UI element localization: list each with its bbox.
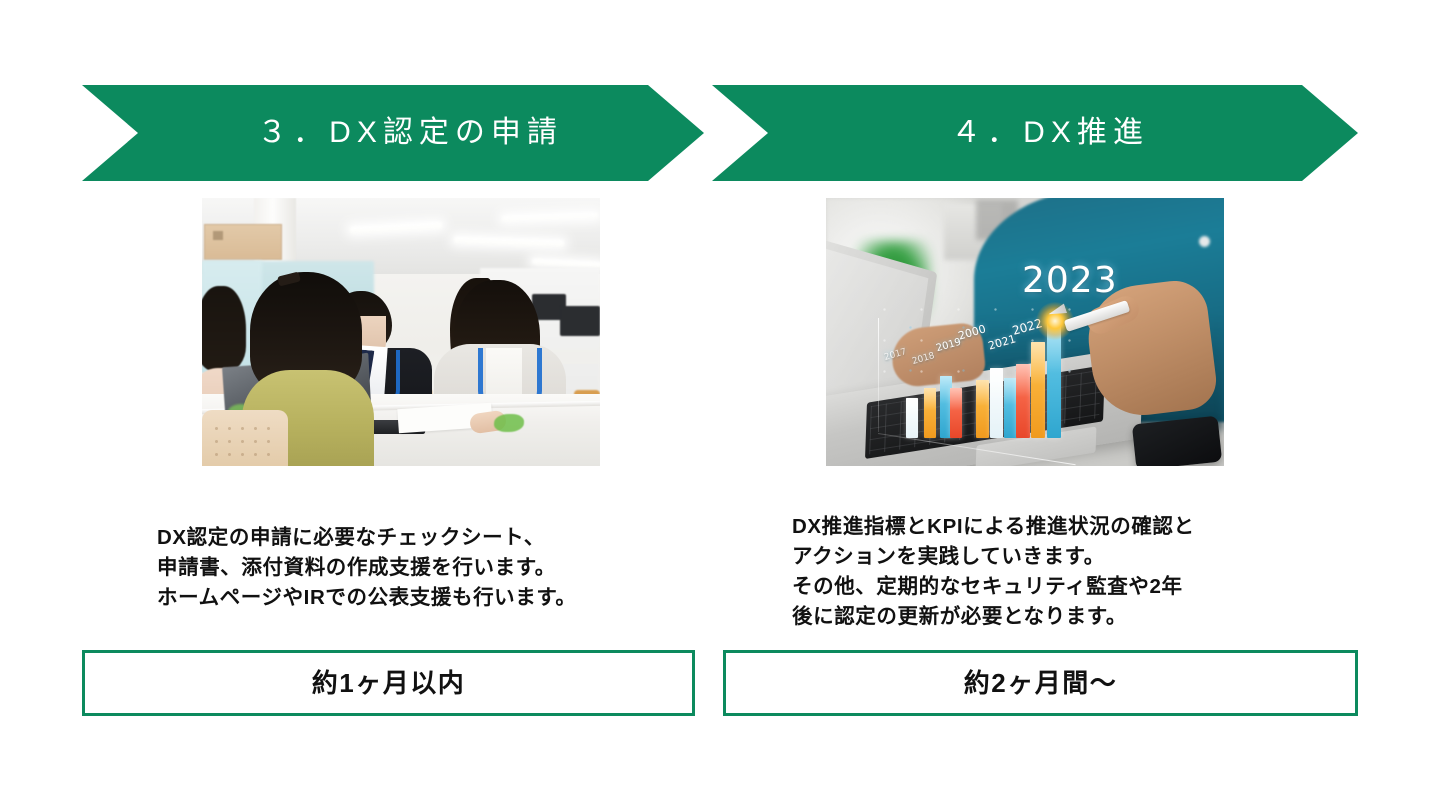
hologram-bar-2022c — [1031, 342, 1045, 438]
step-3-description: DX認定の申請に必要なチェックシート、 申請書、添付資料の作成支援を行います。 … — [157, 523, 577, 613]
hologram-bar-2017 — [906, 398, 918, 438]
slide-root: ３．DX認定の申請 — [0, 0, 1440, 811]
hologram-bar-2018 — [924, 388, 936, 438]
step-banner-3-label: ３．DX認定の申請 — [247, 118, 563, 148]
cardboard-box — [204, 224, 282, 260]
smartphone — [1132, 416, 1222, 466]
desk-plant — [494, 414, 524, 432]
step-4-duration-label: 約2ヶ月間〜 — [964, 670, 1117, 696]
step-4-description: DX推進指標とKPIによる推進状況の確認と アクションを実践していきます。 その… — [792, 512, 1195, 633]
step-3-duration-box: 約1ヶ月以内 — [82, 650, 695, 716]
laptop-photo-content: 2017 2018 2019 2000 2021 2022 2023 — [826, 198, 1224, 466]
step-4-duration-box: 約2ヶ月間〜 — [723, 650, 1358, 716]
shirt-button — [1199, 236, 1210, 247]
hologram-bar-2021b — [990, 368, 1003, 438]
hologram-bar-2020 — [950, 388, 962, 438]
office-meeting-photo — [202, 198, 600, 466]
step-banner-4[interactable]: ４．DX推進 — [712, 85, 1358, 181]
hologram-bar-2022 — [1016, 364, 1030, 438]
hologram-y-axis — [878, 318, 879, 432]
hologram-label-2023: 2023 — [1022, 260, 1118, 301]
step-banner-4-label: ４．DX推進 — [941, 118, 1149, 148]
person-left-hair — [202, 286, 246, 372]
laptop-growth-chart-photo: 2017 2018 2019 2000 2021 2022 2023 — [826, 198, 1224, 466]
wooden-chair — [202, 410, 288, 466]
step-3-duration-label: 約1ヶ月以内 — [312, 670, 465, 696]
monitor-2 — [560, 306, 600, 336]
hologram-bar-2021 — [976, 380, 989, 438]
office-meeting-photo-content — [202, 198, 600, 466]
step-banner-3[interactable]: ３．DX認定の申請 — [82, 85, 704, 181]
